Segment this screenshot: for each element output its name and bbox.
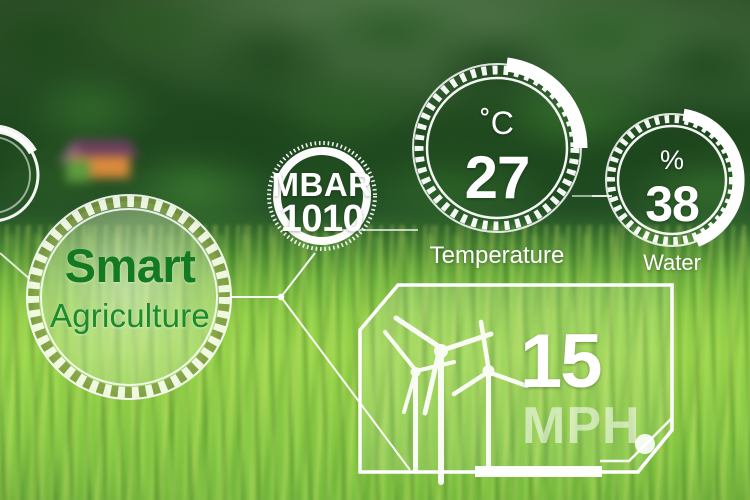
brand-line-2: Agriculture <box>30 297 230 335</box>
temperature-unit-label: ˚C <box>437 105 557 142</box>
water-unit-label: % <box>622 145 722 176</box>
hud-overlay: Smart Agriculture MBAR 1010 ˚C 27 Temper… <box>0 0 750 500</box>
wind-panel-bottom-bar <box>475 466 602 477</box>
temperature-caption: Temperature <box>407 242 587 270</box>
edge-gauge-partial <box>0 129 38 221</box>
pressure-value: 1010 <box>262 198 382 241</box>
water-value: 38 <box>622 175 722 233</box>
brand-line-1: Smart <box>30 238 230 293</box>
smart-agriculture-hud-scene: Smart Agriculture MBAR 1010 ˚C 27 Temper… <box>0 0 750 500</box>
connector-node-to-mbar <box>281 253 315 297</box>
temperature-value: 27 <box>437 143 557 212</box>
wind-speed-value: 15 <box>520 318 680 405</box>
wind-speed-unit: MPH <box>522 396 692 456</box>
water-caption: Water <box>607 250 737 276</box>
connector-node-icon <box>278 294 284 300</box>
